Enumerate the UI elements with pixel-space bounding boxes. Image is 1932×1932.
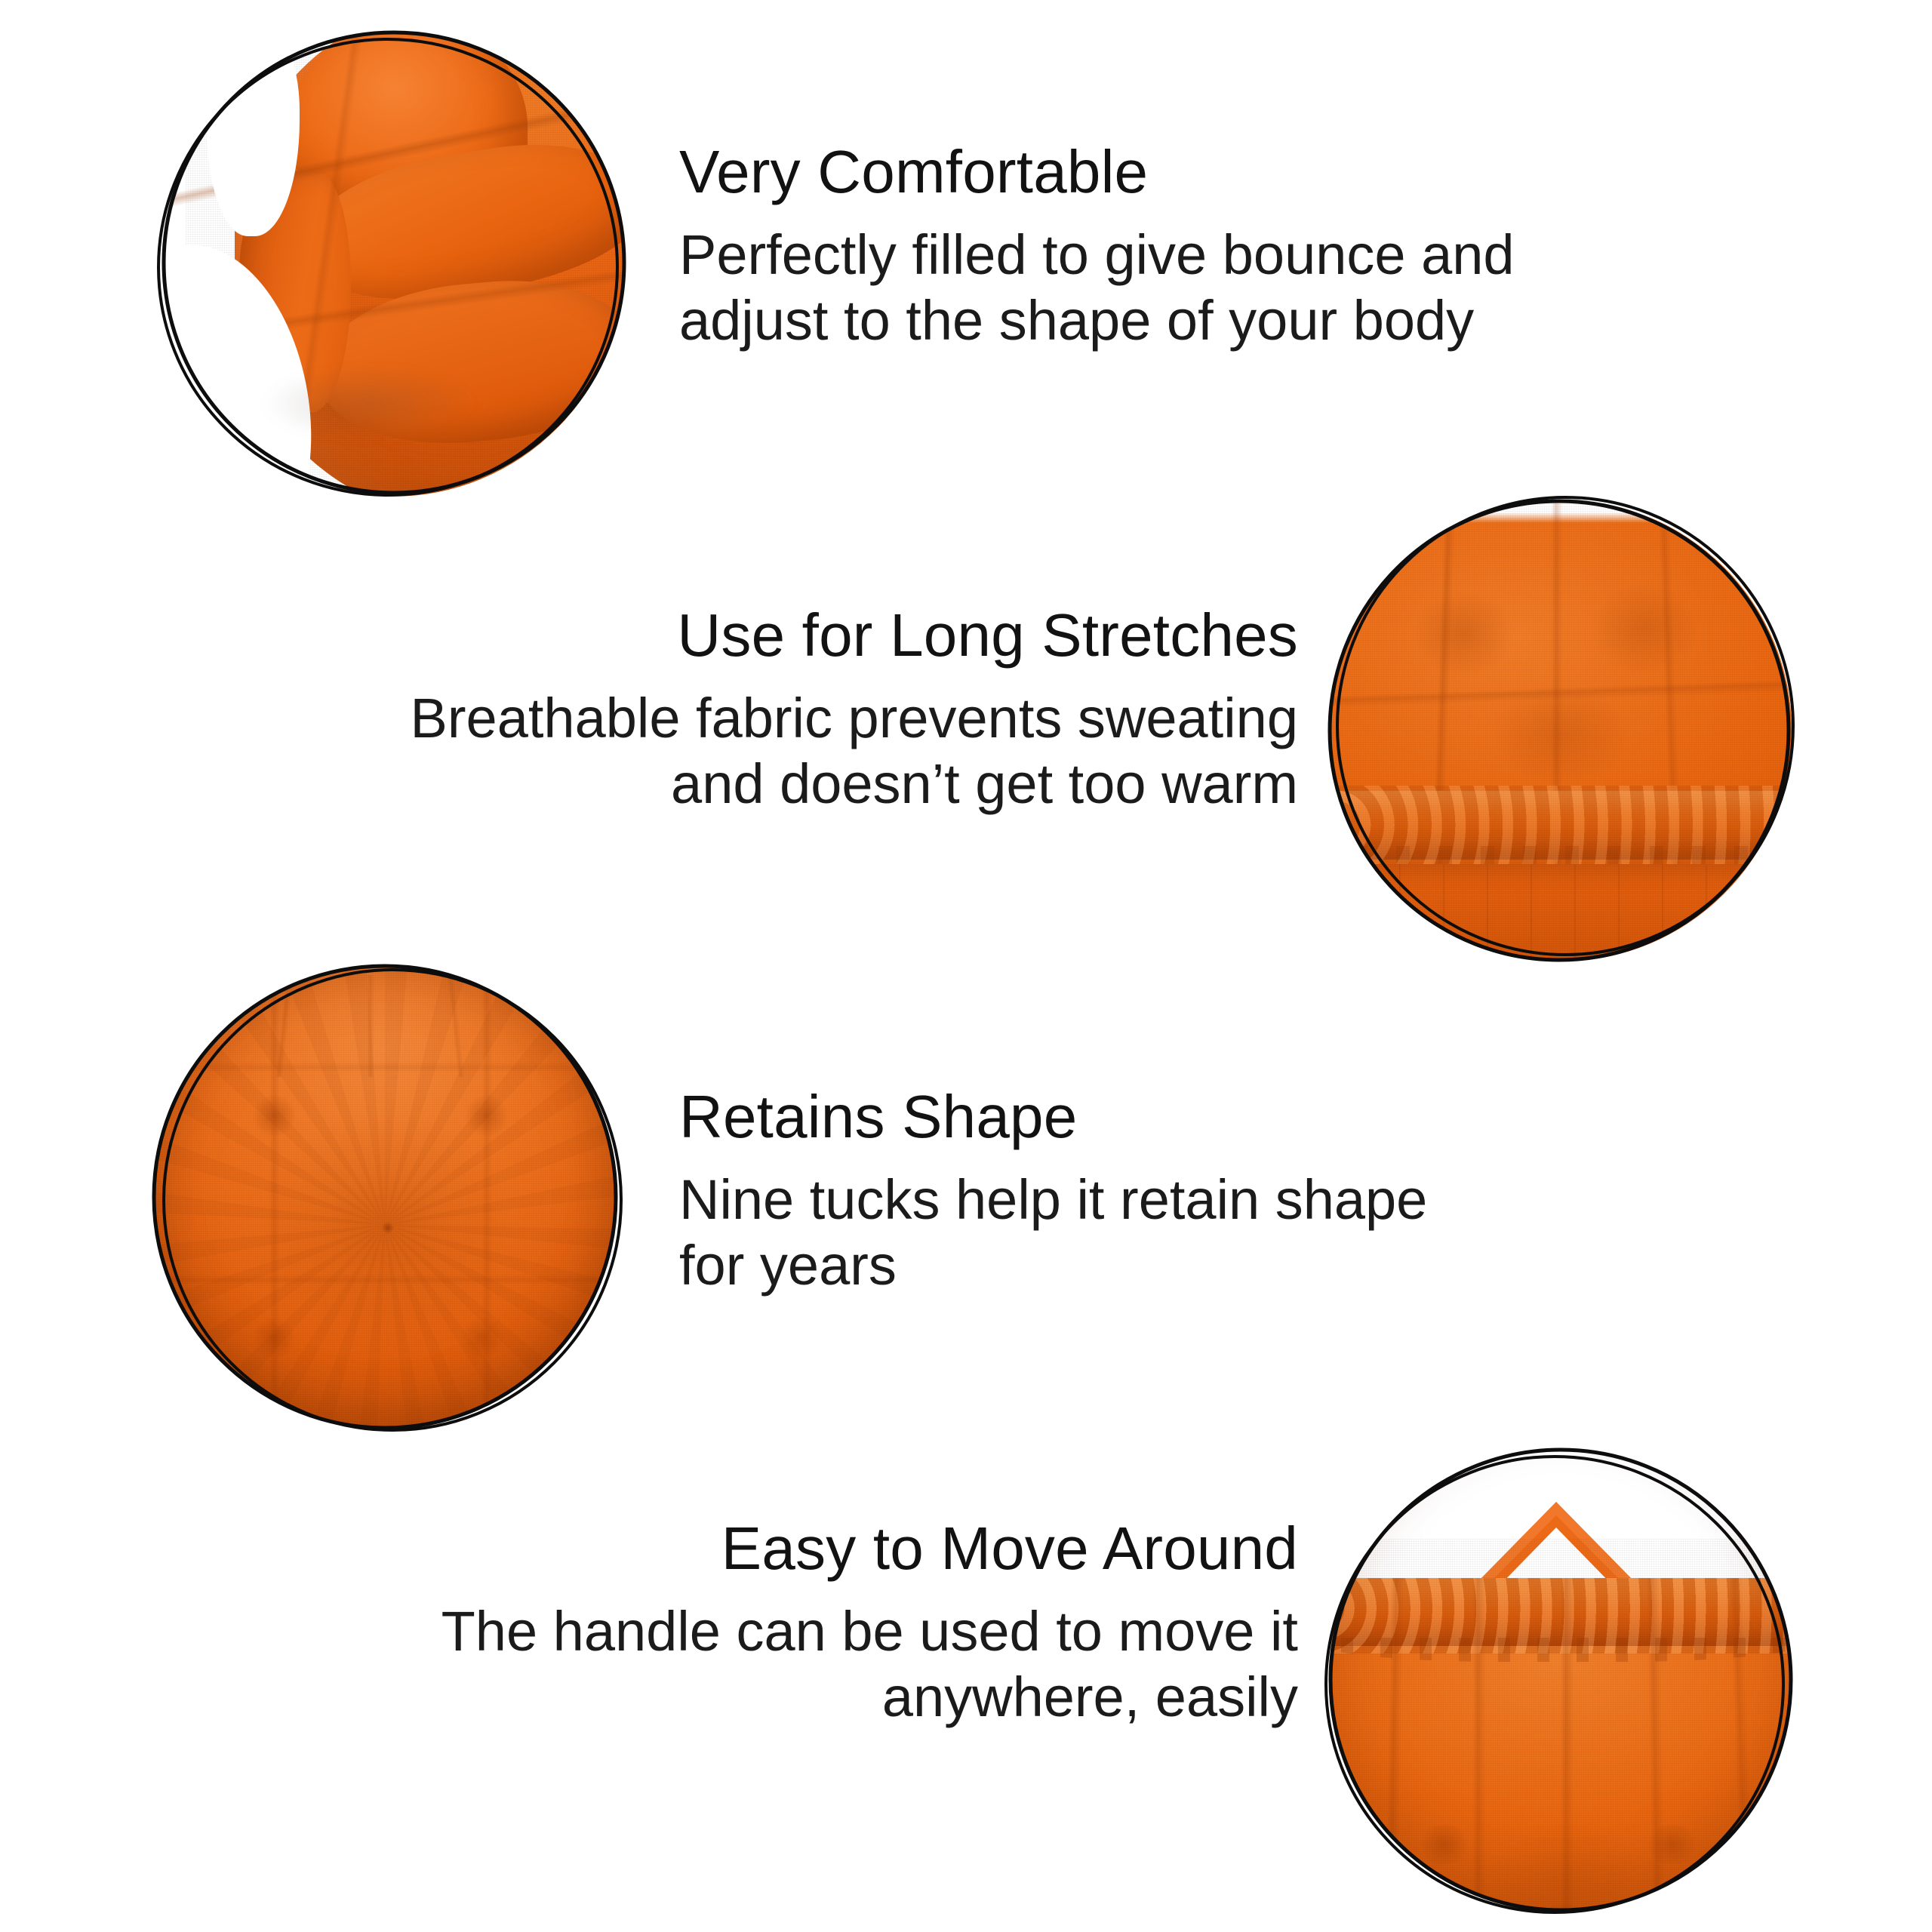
double-ring-outline (1319, 1440, 1805, 1926)
double-ring-outline (143, 957, 632, 1446)
feature-body-line: Perfectly filled to give bounce and (679, 223, 1857, 288)
feature-heading: Easy to Move Around (174, 1517, 1298, 1580)
feature-heading: Retains Shape (679, 1085, 1857, 1148)
feature-heading: Very Comfortable (679, 140, 1857, 203)
feature-body-line: The handle can be used to move it (174, 1599, 1298, 1665)
feature-copy-retains-shape: Retains Shape Nine tucks help it retain … (679, 1085, 1857, 1298)
feature-body-line: Nine tucks help it retain shape (679, 1168, 1857, 1233)
feature-body-line: and doesn’t get too warm (136, 752, 1298, 817)
feature-body: Breathable fabric prevents sweating and … (136, 686, 1298, 817)
feature-body: The handle can be used to move it anywhe… (174, 1599, 1298, 1730)
feature-heading: Use for Long Stretches (136, 604, 1298, 666)
feature-copy-use-for-long-stretches: Use for Long Stretches Breathable fabric… (136, 604, 1298, 817)
feature-body-line: anywhere, easily (174, 1665, 1298, 1730)
feature-image-easy-to-move-around (1319, 1440, 1805, 1926)
feature-body: Perfectly filled to give bounce and adju… (679, 223, 1857, 353)
double-ring-outline (1319, 489, 1802, 972)
double-ring-outline (151, 23, 634, 506)
feature-body-line: adjust to the shape of your body (679, 288, 1857, 354)
feature-body-line: Breathable fabric prevents sweating (136, 686, 1298, 752)
feature-body-line: for years (679, 1233, 1857, 1299)
feature-image-retains-shape (143, 957, 632, 1446)
feature-image-very-comfortable (151, 23, 634, 506)
feature-image-use-for-long-stretches (1319, 489, 1802, 972)
feature-copy-easy-to-move-around: Easy to Move Around The handle can be us… (174, 1517, 1298, 1730)
infographic-board: Very Comfortable Perfectly filled to giv… (0, 0, 1932, 1932)
feature-body: Nine tucks help it retain shape for year… (679, 1168, 1857, 1298)
feature-copy-very-comfortable: Very Comfortable Perfectly filled to giv… (679, 140, 1857, 353)
